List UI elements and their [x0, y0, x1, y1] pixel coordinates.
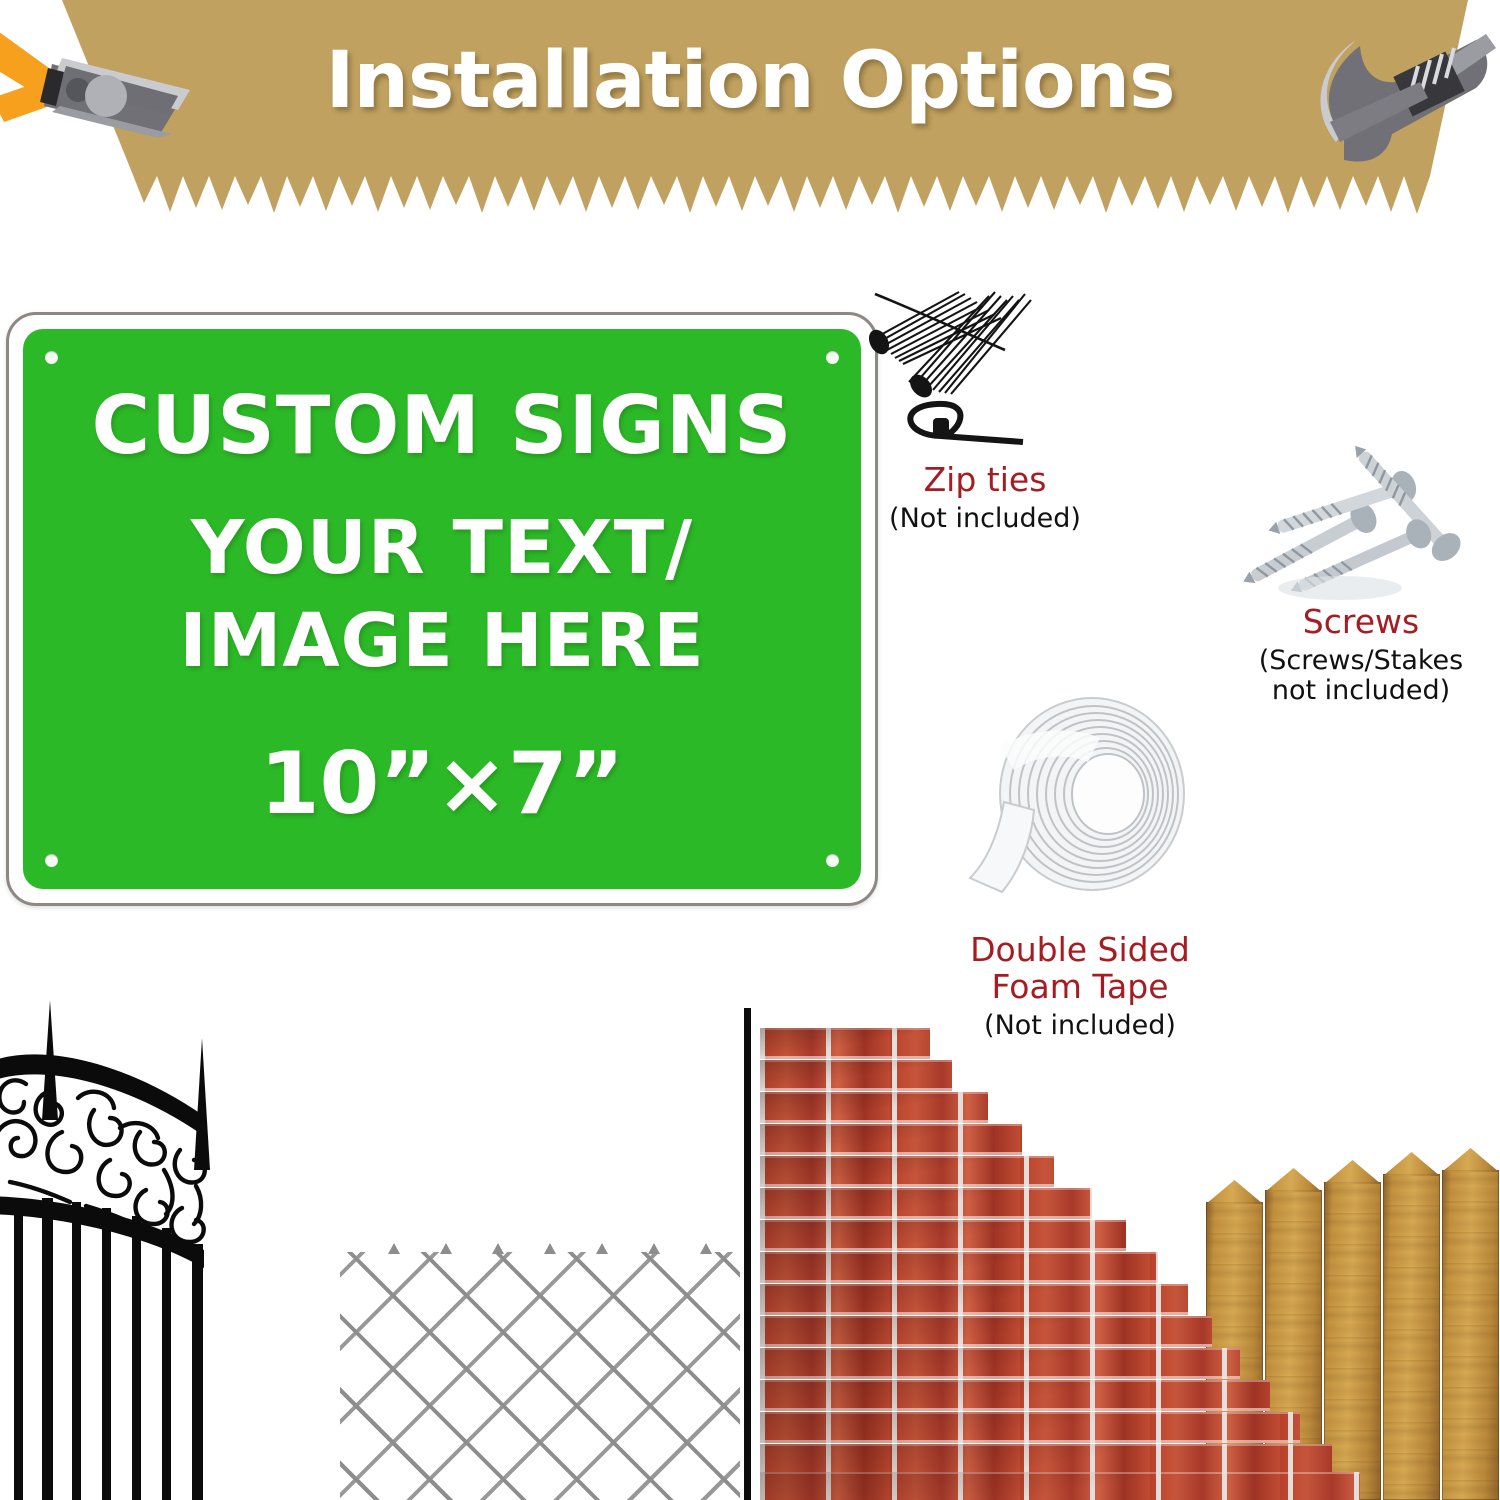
- brick-wall-and-wood-fence-photo: [760, 1020, 1500, 1500]
- sign-panel: CUSTOM SIGNS YOUR TEXT/ IMAGE HERE 10”×7…: [23, 329, 861, 889]
- section-divider: [744, 1008, 751, 1500]
- wrench-icon: [1300, 10, 1500, 180]
- accessory-screws: Screws (Screws/Stakes not included): [1222, 438, 1500, 707]
- foam-tape-icon: [940, 686, 1220, 926]
- accessory-note: (Not included): [845, 504, 1125, 535]
- wrought-iron-gate-icon: [0, 1000, 340, 1500]
- pliers-icon: [0, 6, 232, 166]
- sign-text-block: CUSTOM SIGNS YOUR TEXT/ IMAGE HERE 10”×7…: [23, 329, 861, 889]
- accessory-title: Double Sided Foam Tape: [940, 932, 1220, 1006]
- sign-size-label: 10”×7”: [23, 741, 861, 827]
- chain-link-fence-icon: [340, 1252, 740, 1500]
- custom-sign-preview: CUSTOM SIGNS YOUR TEXT/ IMAGE HERE 10”×7…: [6, 312, 878, 906]
- accessory-title: Screws: [1222, 604, 1500, 641]
- sign-subline-1: YOUR TEXT/: [23, 511, 861, 585]
- sign-subline-2: IMAGE HERE: [23, 604, 861, 678]
- accessory-foam-tape: Double Sided Foam Tape (Not included): [940, 692, 1220, 1041]
- header-banner: Installation Options: [0, 0, 1500, 232]
- accessory-note: (Screws/Stakes not included): [1222, 646, 1500, 707]
- accessory-title: Zip ties: [845, 462, 1125, 499]
- accessory-zip-ties: Zip ties (Not included): [845, 270, 1125, 534]
- sign-heading: CUSTOM SIGNS: [23, 386, 861, 466]
- zip-ties-icon: [845, 266, 1125, 458]
- screws-icon: [1222, 438, 1500, 608]
